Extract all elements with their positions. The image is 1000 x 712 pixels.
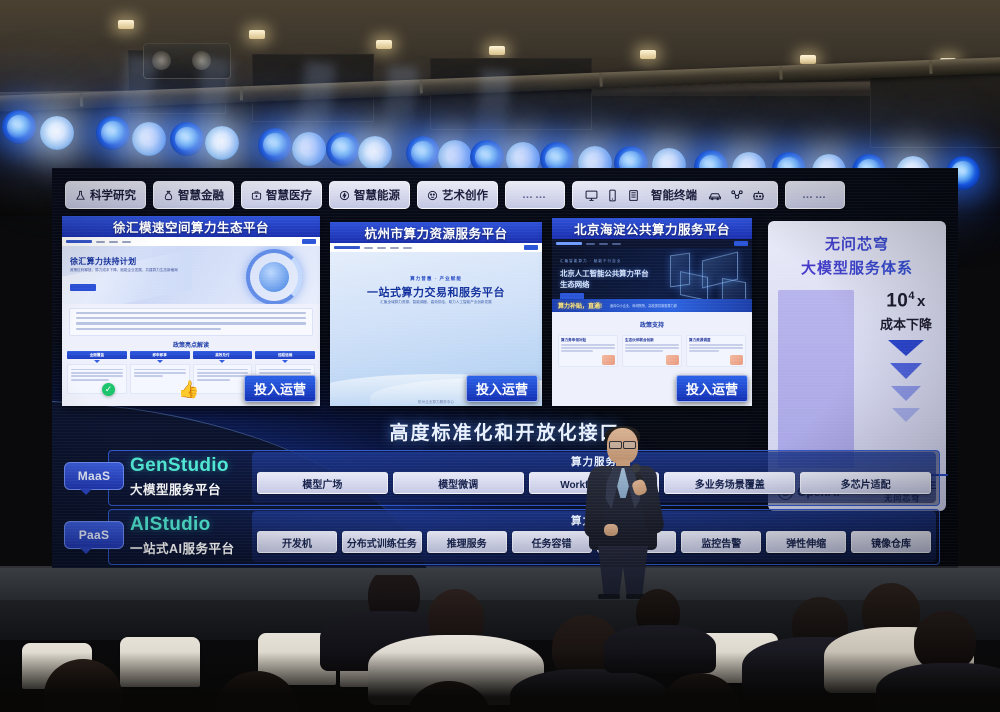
- nav-link[interactable]: [109, 241, 118, 243]
- status-badge-operational: 投入运营: [676, 375, 748, 402]
- policy-head: 远程运维: [278, 353, 292, 358]
- nav-link[interactable]: [377, 247, 386, 249]
- pill-dev-machine[interactable]: 开发机: [257, 531, 337, 553]
- layer-paas: PaaS AIStudio 一站式AI服务平台 算力基建 开发机 分布式训练任务…: [60, 509, 940, 565]
- nav-link[interactable]: [390, 247, 399, 249]
- layer-tag-paas: PaaS: [64, 521, 124, 549]
- hero-subtitle: 汇聚全域算力资源，智能调度，高效供给，助力人工智能产业创新发展: [330, 300, 542, 305]
- product-title: GenStudio: [130, 455, 229, 477]
- nav-link[interactable]: [599, 243, 608, 245]
- platform-card-group: 徐汇模速空间算力生态平台 徐汇算力扶持计划 政策红利释放，算力成本下降，赋能企业…: [62, 216, 762, 416]
- hero-ring-graphic: [246, 249, 302, 304]
- policy-head: 全面覆盖: [90, 353, 104, 358]
- subsidy-banner: 算力补贴，直通! 面向中小企业、科研院所、高校提供普惠算力券: [552, 299, 752, 312]
- policy-head: 即申即享: [152, 353, 166, 358]
- stage-lamp-white: [205, 126, 239, 160]
- chevron-down-icon: [94, 360, 100, 363]
- chip-label: 智慧能源: [354, 187, 400, 203]
- pill-distributed-training[interactable]: 分布式训练任务: [342, 531, 422, 553]
- nav-link[interactable]: [96, 241, 105, 243]
- banner-text: 算力补贴，直通!: [558, 301, 602, 310]
- ellipsis-icon: ……: [522, 189, 548, 201]
- policy-illustration: [602, 355, 615, 365]
- pill-model-finetune[interactable]: 模型微调: [393, 472, 524, 494]
- chip-art[interactable]: 艺术创作: [417, 181, 498, 209]
- layer-maas: MaaS GenStudio 大模型服务平台 算力服务 模型广场 模型微调 Wo…: [60, 450, 940, 506]
- chip-label: 智能终端: [651, 187, 697, 203]
- site-navbar: [330, 243, 542, 252]
- verified-check-icon: [102, 383, 115, 396]
- hero-title: 北京人工智能公共算力平台 生态网络: [560, 268, 649, 290]
- site-section-title: 政策亮点解读: [62, 340, 320, 349]
- policy-card-title: 算力资源调度: [689, 338, 743, 343]
- pill-multi-scenario[interactable]: 多业务场景覆盖: [664, 472, 795, 494]
- chip-more-trailing[interactable]: ……: [785, 181, 845, 209]
- card-site-preview: 徐汇算力扶持计划 政策红利释放，算力成本下降，赋能企业发展，共建算力生态新格局 …: [62, 237, 320, 406]
- ceiling-downlight: [640, 50, 656, 59]
- policy-card[interactable]: 算力券申领补贴: [558, 335, 618, 367]
- nav-link[interactable]: [586, 243, 595, 245]
- policy-card-title: 生态伙伴联合创新: [625, 338, 679, 343]
- site-logo: [556, 242, 582, 245]
- policy-head: 高效兑付: [215, 353, 229, 358]
- chip-finance[interactable]: 智慧金融: [153, 181, 234, 209]
- cost-metric-label: 成本下降: [864, 314, 948, 333]
- cube-graphic: [670, 253, 690, 288]
- audience: [0, 575, 1000, 712]
- robot-icon: [752, 189, 765, 202]
- nav-link[interactable]: [612, 243, 621, 245]
- site-section-title: 政策支持: [552, 320, 752, 329]
- chip-medical[interactable]: 智慧医疗: [241, 181, 322, 209]
- down-arrow-icon: [890, 363, 922, 379]
- stage-lamp-blue: [96, 116, 130, 150]
- stage-lamp-blue: [258, 128, 292, 162]
- presentation-photo: 科学研究 智慧金融 智慧医疗: [0, 0, 1000, 712]
- presenter: [580, 428, 666, 598]
- chip-label: 智慧金融: [178, 187, 224, 203]
- pill-inference-service[interactable]: 推理服务: [427, 531, 507, 553]
- site-logo: [66, 240, 92, 243]
- led-presentation-screen: 科学研究 智慧金融 智慧医疗: [52, 168, 958, 568]
- money-bag-icon: [163, 190, 174, 201]
- panel-title-system: 大模型服务体系: [778, 257, 936, 278]
- chip-label: 艺术创作: [442, 187, 488, 203]
- card-site-preview: 算力普惠 · 产业赋能 一站式算力交易和服务平台 汇聚全域算力资源，智能调度，高…: [330, 243, 542, 406]
- policy-card-grid: 算力券申领补贴 生态伙伴联合创新 算力资源调度: [552, 331, 752, 371]
- stage-lamp-blue: [170, 122, 204, 156]
- chip-science[interactable]: 科学研究: [65, 181, 146, 209]
- stage-lamp-blue: [326, 132, 360, 166]
- layer-product-name: AIStudio 一站式AI服务平台: [130, 514, 235, 557]
- glasses-icon: [609, 441, 636, 447]
- hero-eyebrow: 算力普惠 · 产业赋能: [330, 276, 542, 282]
- layer-tag-maas: MaaS: [64, 462, 124, 490]
- ceiling-downlight: [118, 20, 134, 29]
- ceiling-downlight: [249, 30, 265, 39]
- ceiling-downlight: [489, 46, 505, 55]
- site-login-button[interactable]: [302, 239, 316, 244]
- site-login-button[interactable]: [524, 245, 538, 250]
- chip-label: 科学研究: [90, 187, 136, 203]
- policy-illustration: [666, 355, 679, 365]
- product-subtitle: 一站式AI服务平台: [130, 538, 235, 557]
- chevron-down-icon: [157, 360, 163, 363]
- platform-card-hangzhou[interactable]: 杭州市算力资源服务平台 算力普惠 · 产业赋能 一站式算力交易和服务平台 汇聚全…: [330, 222, 542, 406]
- stage-lamp-white: [40, 116, 74, 150]
- site-login-button[interactable]: [734, 241, 748, 246]
- platform-card-haidian[interactable]: 北京海淀公共算力服务平台 汇聚智: [552, 218, 752, 406]
- hero-subtitle: 政策红利释放，算力成本下降，赋能企业发展，共建算力生态新格局: [70, 268, 190, 273]
- industry-chip-row: 科学研究 智慧金融 智慧医疗: [65, 180, 949, 210]
- ceiling-downlight: [800, 55, 816, 64]
- site-logo: [334, 246, 360, 249]
- panel-title-brand: 无问芯穹: [778, 233, 936, 254]
- car-icon: [708, 189, 722, 202]
- pill-monitoring-alerts[interactable]: 监控告警: [681, 531, 761, 553]
- site-navbar: [62, 237, 320, 246]
- nav-link[interactable]: [364, 247, 373, 249]
- cost-metric-group: 104x 成本下降: [864, 290, 948, 422]
- audience-shadow-gradient: [0, 652, 1000, 712]
- chip-energy[interactable]: 智慧能源: [329, 181, 410, 209]
- banner-subtext: 面向中小企业、科研院所、高校提供普惠算力券: [610, 303, 677, 308]
- ellipsis-icon: ……: [802, 189, 828, 201]
- hero-eyebrow: 汇聚智能算力 · 赋能千行百业: [560, 259, 621, 264]
- pill-image-registry[interactable]: 镜像仓库: [851, 531, 931, 553]
- layer-product-name: GenStudio 大模型服务平台: [130, 455, 229, 498]
- medical-case-icon: [251, 190, 262, 201]
- phone-icon: [606, 189, 619, 202]
- status-badge-operational: 投入运营: [466, 375, 538, 402]
- nav-link[interactable]: [122, 241, 131, 243]
- policy-card[interactable]: 算力资源调度: [686, 335, 746, 367]
- presenter-hand: [604, 524, 618, 536]
- server-icon: [627, 189, 640, 202]
- cost-metric-value: 104x: [864, 290, 948, 312]
- chevron-down-icon: [282, 360, 288, 363]
- platform-card-xuhui[interactable]: 徐汇模速空间算力生态平台 徐汇算力扶持计划 政策红利释放，算力成本下降，赋能企业…: [62, 216, 320, 406]
- interface-section-title: 高度标准化和开放化接口: [52, 418, 958, 445]
- chevron-down-icon: [219, 360, 225, 363]
- policy-column[interactable]: 全面覆盖: [67, 351, 127, 394]
- site-hero: 徐汇算力扶持计划 政策红利释放，算力成本下降，赋能企业发展，共建算力生态新格局: [62, 246, 320, 304]
- thumbs-up-icon: 👍: [178, 380, 199, 400]
- pill-elastic-scaling[interactable]: 弹性伸缩: [766, 531, 846, 553]
- stage-lamp-white: [292, 132, 326, 166]
- energy-drop-icon: [339, 190, 350, 201]
- policy-body: [67, 364, 127, 394]
- policy-card-title: 算力券申领补贴: [561, 338, 615, 343]
- hero-cta-button[interactable]: [70, 284, 96, 291]
- policy-card[interactable]: 生态伙伴联合创新: [622, 335, 682, 367]
- chip-smart-terminal[interactable]: 智能终端: [572, 181, 778, 209]
- monitor-icon: [585, 189, 598, 202]
- card-title: 徐汇模速空间算力生态平台: [62, 216, 320, 237]
- product-title: AIStudio: [130, 514, 235, 536]
- card-title: 北京海淀公共算力服务平台: [552, 218, 752, 239]
- down-arrow-icon: [891, 386, 921, 401]
- site-intro-panel: [69, 308, 313, 336]
- policy-illustration: [730, 355, 743, 365]
- hero-title: 徐汇算力扶持计划: [70, 256, 136, 267]
- card-title: 杭州市算力资源服务平台: [330, 222, 542, 243]
- chip-more[interactable]: ……: [505, 181, 565, 209]
- chip-label: 智慧医疗: [266, 187, 312, 203]
- stage-lamp-white: [132, 122, 166, 156]
- card-site-preview: 汇聚智能算力 · 赋能千行百业 北京人工智能公共算力平台 生态网络 算力补贴，直…: [552, 239, 752, 406]
- status-badge-operational: 投入运营: [244, 375, 316, 402]
- stage-lamp-blue: [2, 110, 36, 144]
- hero-title: 一站式算力交易和服务平台: [330, 284, 542, 300]
- stage-lamp-white: [358, 136, 392, 170]
- flask-icon: [75, 190, 86, 201]
- product-subtitle: 大模型服务平台: [130, 479, 229, 498]
- pill-multi-chip[interactable]: 多芯片适配: [800, 472, 931, 494]
- site-hero-dark: 汇聚智能算力 · 赋能千行百业 北京人工智能公共算力平台 生态网络 算力补贴，直…: [552, 248, 752, 312]
- drone-icon: [730, 189, 744, 202]
- down-arrow-icon: [888, 340, 924, 356]
- site-navbar: [552, 239, 752, 248]
- palette-icon: [427, 190, 438, 201]
- nav-link[interactable]: [403, 247, 412, 249]
- ceiling-downlight: [376, 40, 392, 49]
- wall-acoustic-panel: [870, 72, 1000, 148]
- pill-model-plaza[interactable]: 模型广场: [257, 472, 388, 494]
- stage-lamp-blue: [406, 136, 440, 170]
